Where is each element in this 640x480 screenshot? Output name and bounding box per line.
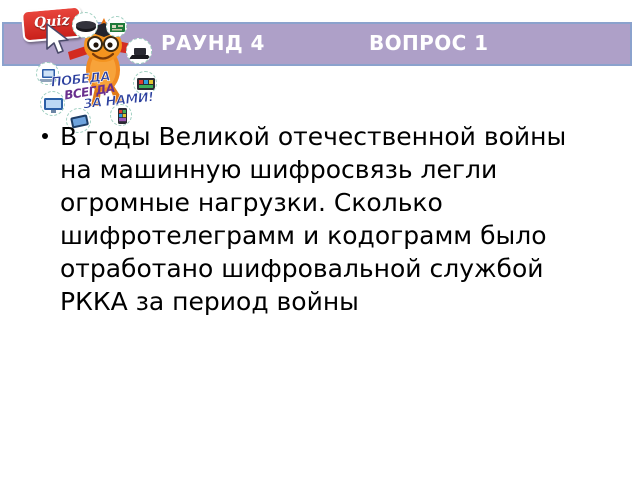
dark-laptop-icon	[126, 38, 152, 64]
quiz-logo-cluster: Quiz	[0, 0, 190, 128]
question-label: ВОПРОС 1	[369, 31, 488, 55]
question-body: В годы Великой отечественной войны на ма…	[38, 120, 598, 318]
bullet-item: В годы Великой отечественной войны на ма…	[38, 120, 598, 318]
game-console-icon	[72, 12, 98, 38]
bullet-icon	[42, 133, 48, 139]
question-text: В годы Великой отечественной войны на ма…	[60, 120, 598, 318]
circuit-board-icon	[106, 16, 127, 37]
quiz-slide: РАУНД 4 ВОПРОС 1 Quiz	[0, 0, 640, 480]
